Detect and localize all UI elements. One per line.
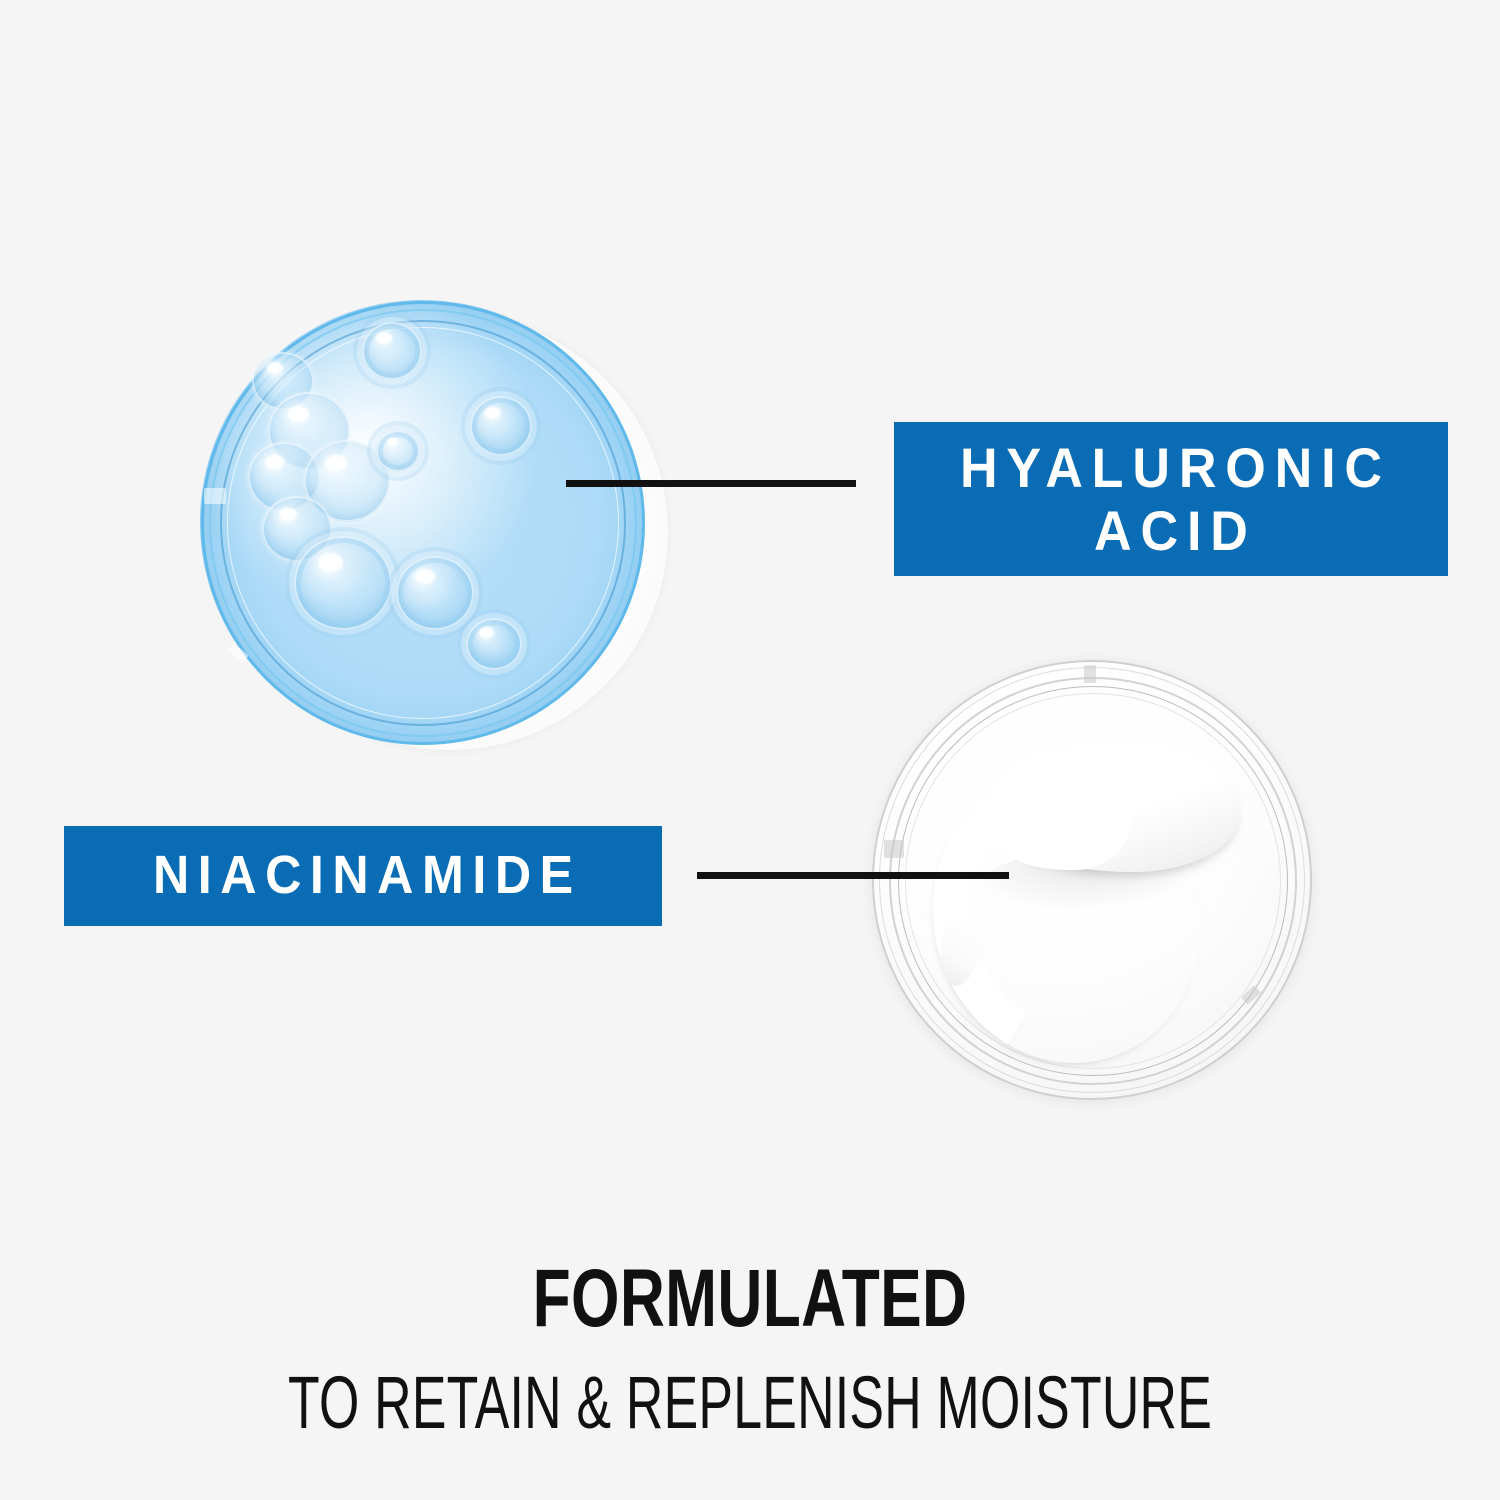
bubble-highlight [288,406,309,422]
gel-bubble [396,556,474,630]
callout-badge-hyaluronic-acid[interactable]: HYALURONIC ACID [894,422,1448,576]
bubble-highlight [318,553,343,572]
callout-badge-niacinamide[interactable]: NIACINAMIDE [64,826,662,926]
subhead-moisture: TO RETAIN & REPLENISH MOISTURE [225,1366,1275,1440]
callout-label-hyaluronic-acid: HYALURONIC ACID [913,436,1428,563]
gel-bubble [362,322,422,380]
cream-petri-dish [872,660,1332,1110]
bubble-highlight [479,627,494,637]
bubble-highlight [267,362,283,374]
gel-dish-notch-left [204,488,226,504]
gel-bubble [470,396,532,456]
gel-bubble [466,618,522,670]
cream-dish-notch-left [884,840,904,858]
cream-swoosh [934,742,1244,992]
bubble-highlight [387,438,398,446]
bubble-highlight [376,332,392,344]
leader-line-niacinamide [697,872,1009,879]
callout-label-niacinamide: NIACINAMIDE [144,845,581,906]
leader-line-hyaluronic-acid [566,480,856,487]
bubble-highlight [485,407,501,419]
bubble-highlight [415,569,435,584]
blue-gel-petri-dish [200,300,670,760]
gel-bubble [294,536,392,630]
bubble-highlight [279,508,297,521]
bubble-highlight [325,455,347,471]
bottom-copy-block: FORMULATED TO RETAIN & REPLENISH MOISTUR… [0,1258,1500,1440]
infographic-canvas: HYALURONIC ACID NIACINAMIDE FORMULATED T… [0,0,1500,1500]
headline-formulated: FORMULATED [180,1258,1320,1340]
cream-dish-notch-top [1084,665,1096,683]
gel-bubble [376,430,420,472]
bubble-highlight [265,455,284,469]
